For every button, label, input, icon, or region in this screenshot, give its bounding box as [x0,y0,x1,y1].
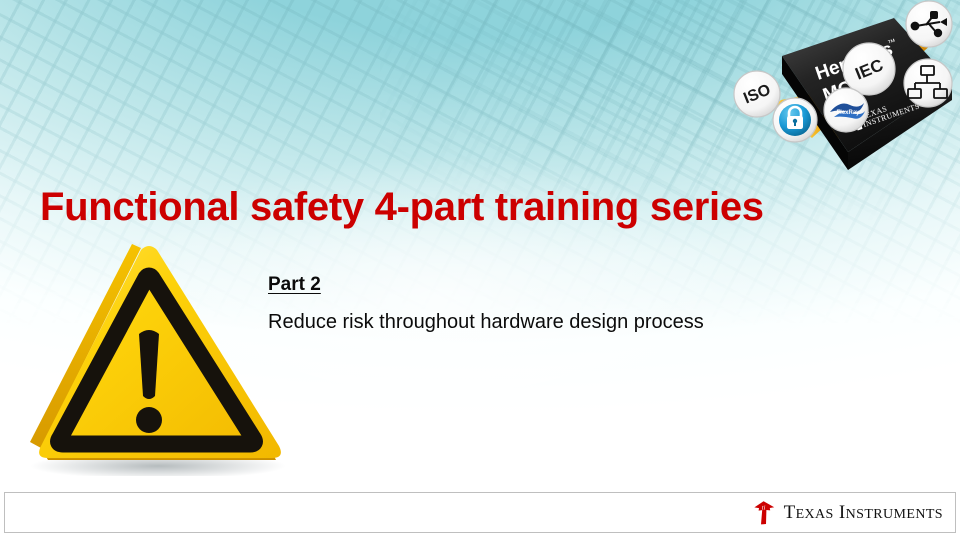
footer-bar: ti TEXAS INSTRUMENTS [4,492,956,533]
ti-logo-texas-t: T [784,502,796,523]
warning-triangle-icon [8,238,290,476]
ti-logo-instruments-rest: NSTRUMENTS [846,507,943,522]
usb-badge [906,1,952,47]
part-label: Part 2 [268,274,321,296]
ti-texas-logo-icon: ti [752,500,776,526]
ethernet-badge [904,59,952,107]
svg-text:FlexRay: FlexRay [836,110,860,116]
presentation-slide: Functional safety 4-part training series [0,0,960,540]
slide-subtitle: Reduce risk throughout hardware design p… [268,311,704,334]
ti-logo-wordmark: TEXAS INSTRUMENTS [784,503,943,522]
iso-badge: ISO [734,71,780,117]
texas-instruments-logo: ti TEXAS INSTRUMENTS [752,500,943,526]
iec-badge: IEC [843,43,895,95]
flexray-badge: FlexRay [824,88,868,132]
svg-text:ti: ti [761,504,765,511]
hercules-mcu-chip-graphic: Hercules ™ MCU TEXAS INSTRUMENTS ISO IEC [726,0,960,192]
ti-logo-texas-rest: EXAS [796,507,834,522]
security-lock-badge [773,98,817,142]
